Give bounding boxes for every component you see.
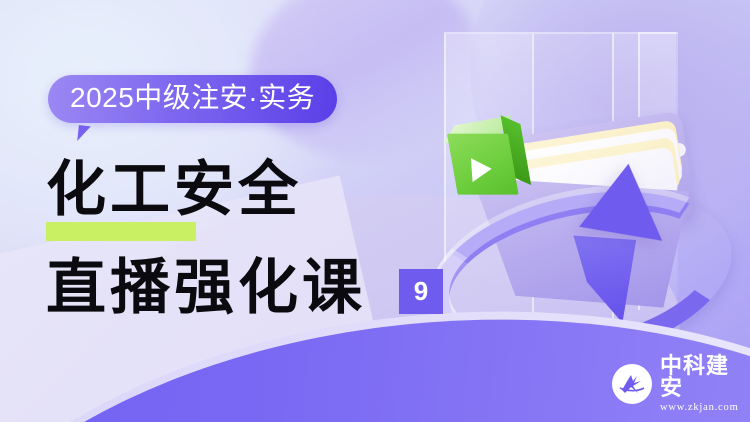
badge-pointer-tail	[77, 125, 97, 143]
course-promo-poster: 2025中级注安·实务 化工安全 直播强化课 9 中科建安 www.zkjan.…	[0, 0, 750, 422]
green-play-cube-icon	[446, 116, 532, 202]
headline-line-2: 直播强化课	[46, 258, 366, 318]
headline-highlight-bar	[46, 222, 196, 241]
brand-logo-text: 中科建安 www.zkjan.com	[660, 355, 750, 414]
brand-url: www.zkjan.com	[660, 403, 750, 414]
brand-name: 中科建安	[660, 355, 750, 399]
headline-line-1: 化工安全	[46, 160, 302, 220]
episode-number-badge: 9	[399, 269, 443, 314]
brand-logo: 中科建安 www.zkjan.com	[612, 355, 750, 414]
zkjan-monogram-icon	[612, 364, 652, 404]
course-category-badge: 2025中级注安·实务	[48, 75, 337, 123]
play-triangle-icon	[471, 157, 493, 182]
